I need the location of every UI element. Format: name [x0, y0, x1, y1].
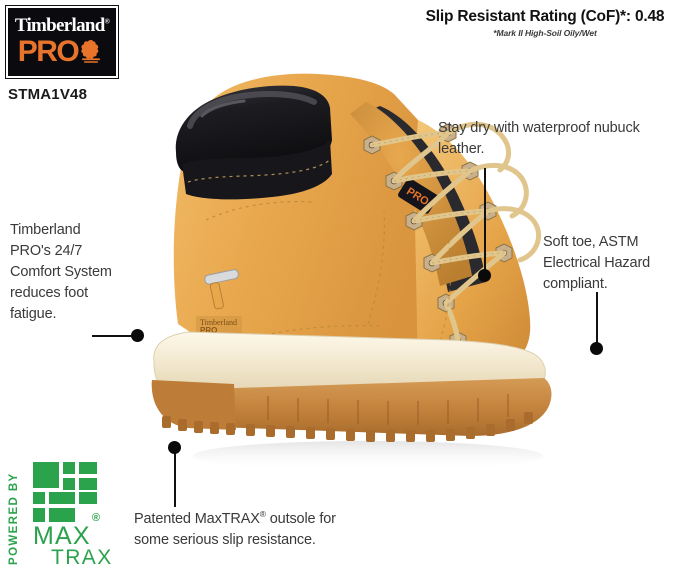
- callout-maxtrax-leader-line: [174, 447, 176, 507]
- callout-soft-toe-leader-dot: [590, 342, 603, 355]
- tree-icon: [76, 37, 106, 70]
- brand-pro-text: PRO: [18, 40, 79, 65]
- callout-waterproof-leader-dot: [478, 269, 491, 282]
- brand-wordmark: Timberland®: [15, 16, 109, 35]
- maxtrax-wordmark-line1: MAX: [33, 525, 113, 548]
- callout-maxtrax-outsole-text: Patented MaxTRAX® outsole for some serio…: [134, 508, 374, 551]
- maxtrax-wordmark-line2: TRAX: [33, 548, 113, 567]
- callout-comfort-system-leader-line: [92, 335, 136, 337]
- maxtrax-blocks-icon: ®: [33, 462, 99, 524]
- callout-comfort-system-text: Timberland PRO's 24/7 Comfort System red…: [10, 220, 120, 325]
- badge-content: ® MAX TRAX: [33, 462, 113, 575]
- product-sku: STMA1V48: [8, 86, 87, 103]
- maxtrax-wordmark: MAX TRAX: [33, 525, 113, 567]
- powered-by-label: POWERED BY: [4, 462, 24, 575]
- callout-maxtrax-text-pre: Patented MaxTRAX: [134, 511, 260, 527]
- brand-wordmark-text: Timberland: [15, 15, 105, 36]
- callout-waterproof-text: Stay dry with waterproof nubuck leather.: [438, 118, 678, 160]
- callout-soft-toe-leader-line: [596, 292, 598, 348]
- registered-mark-icon: ®: [105, 17, 110, 25]
- brand-pro-row: PRO: [18, 37, 107, 69]
- timberland-pro-logo: Timberland® PRO: [6, 6, 118, 78]
- callout-waterproof-leader-line: [484, 168, 486, 276]
- product-image-wheat-nubuck-work-boot: PRO: [118, 24, 578, 489]
- registered-mark-icon: ®: [92, 512, 100, 524]
- powered-by-maxtrax-badge: POWERED BY ® MAX TRAX: [4, 462, 108, 575]
- callout-comfort-system-leader-dot: [131, 329, 144, 342]
- callout-maxtrax-leader-dot: [168, 441, 181, 454]
- infographic-canvas: Timberland® PRO STMA1V48 Slip Resistant …: [0, 0, 695, 577]
- callout-soft-toe-text: Soft toe, ASTM Electrical Hazard complia…: [543, 232, 693, 295]
